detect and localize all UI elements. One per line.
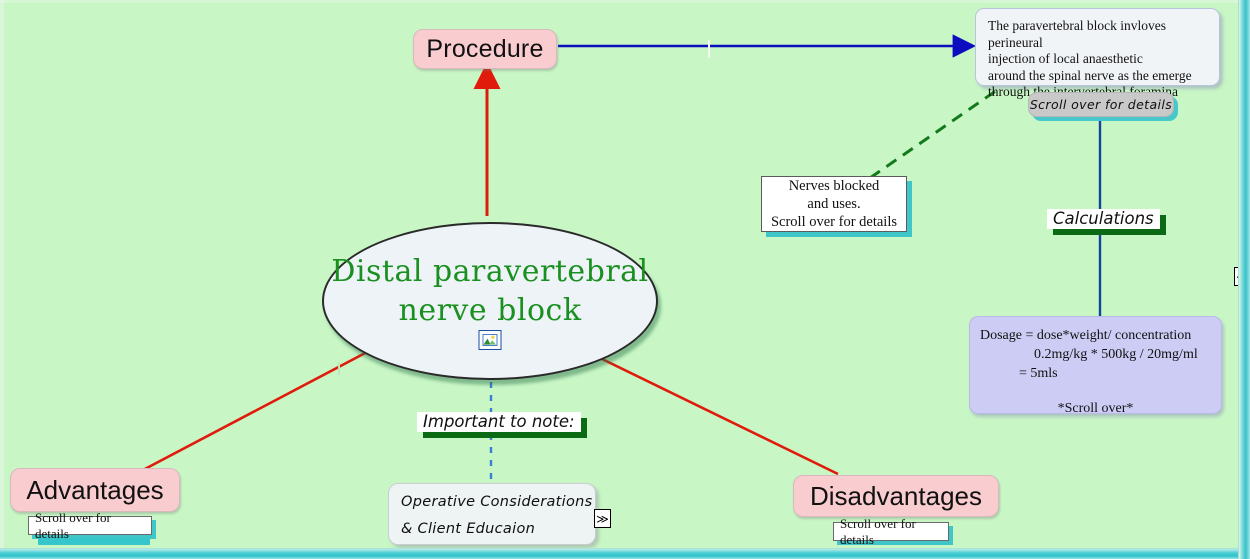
nerves-line1: Nerves blocked (789, 177, 880, 195)
important-note-heading-wrap: Important to note: (417, 412, 581, 432)
node-disadvantages[interactable]: Disadvantages (793, 475, 999, 517)
dosage-line4: *Scroll over* (980, 383, 1211, 418)
node-advantages[interactable]: Advantages (10, 468, 180, 512)
mindmap-canvas: Distal paravertebral nerve block Procedu… (0, 0, 1250, 559)
dosage-line3: = 5mls (980, 364, 1211, 383)
calculations-heading-wrap: Calculations (1047, 209, 1160, 229)
disadvantages-scroll-hint[interactable]: Scroll over for details (833, 522, 949, 541)
nerves-line2: and uses. (807, 195, 860, 213)
expand-right-chevron-icon[interactable]: ≫ (594, 509, 611, 528)
operative-considerations-callout[interactable]: Operative Considerations & Client Educai… (388, 483, 596, 545)
nerves-line3: Scroll over for details (771, 213, 897, 231)
description-line1: The paravertebral block invloves perineu… (988, 18, 1208, 51)
description-line3: around the spinal nerve as the emerge (988, 68, 1208, 85)
node-procedure[interactable]: Procedure (413, 29, 557, 69)
central-node-label: Distal paravertebral nerve block (322, 252, 658, 330)
description-callout[interactable]: The paravertebral block invloves perineu… (975, 8, 1220, 86)
operative-line2: & Client Educaion (401, 516, 595, 543)
central-node-label-line2: nerve block (322, 291, 658, 330)
connector-nerves-dashed (870, 88, 1000, 178)
important-note-heading: Important to note: (417, 412, 581, 432)
central-node-label-line1: Distal paravertebral (322, 252, 658, 291)
picture-icon[interactable] (479, 330, 502, 350)
operative-line1: Operative Considerations (401, 489, 595, 516)
horizontal-scrollbar[interactable] (0, 548, 1250, 559)
canvas-left-edge (0, 0, 4, 549)
vertical-scrollbar[interactable] (1238, 0, 1250, 559)
canvas-top-edge (0, 0, 1240, 3)
description-scroll-hint[interactable]: Scroll over for details (1028, 92, 1174, 117)
dosage-callout[interactable]: Dosage = dose*weight/ concentration 0.2m… (969, 316, 1222, 414)
central-node[interactable]: Distal paravertebral nerve block (322, 222, 658, 380)
description-line2: injection of local anaesthetic (988, 51, 1208, 68)
horizontal-scrollbar-thumb[interactable] (38, 538, 150, 545)
nerves-blocked-callout[interactable]: Nerves blocked and uses. Scroll over for… (761, 176, 907, 232)
dosage-line1: Dosage = dose*weight/ concentration (980, 326, 1211, 345)
advantages-scroll-hint[interactable]: Scroll over for details (28, 516, 152, 535)
calculations-heading: Calculations (1047, 209, 1160, 229)
dosage-line2: 0.2mg/kg * 500kg / 20mg/ml (980, 345, 1211, 364)
